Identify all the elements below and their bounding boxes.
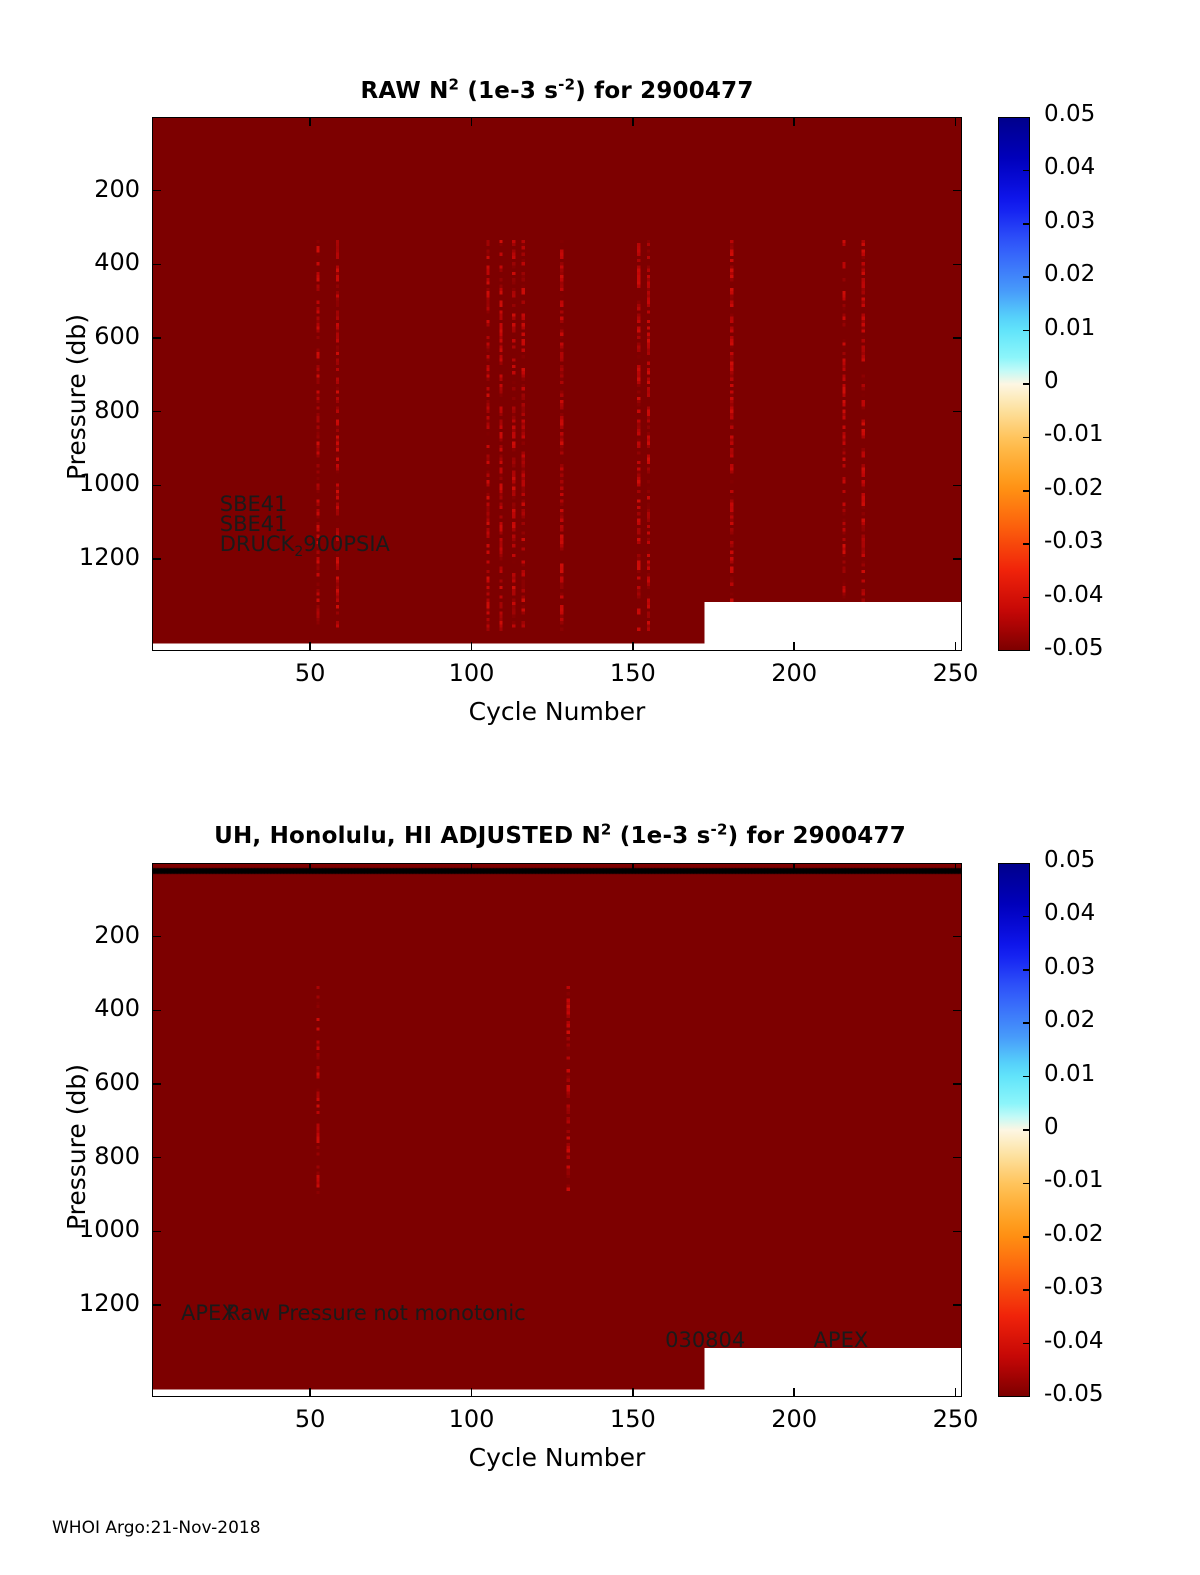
x-tick-250 <box>955 117 957 126</box>
colorbar-tick--0.04 <box>1023 1343 1030 1345</box>
colorbar-tick--0.02 <box>1023 1236 1030 1238</box>
colorbar-tick-0.03 <box>1023 969 1030 971</box>
colorbar-label-0.05: 0.05 <box>1044 101 1095 127</box>
y-tick-800 <box>152 411 161 413</box>
y-tick-1000 <box>152 485 161 487</box>
colorbar-label-0: 0 <box>1044 368 1059 394</box>
colorbar-tick-0.01 <box>1023 330 1030 332</box>
y-tick-label-400: 400 <box>22 994 140 1022</box>
raw-heatmap-axes <box>152 117 962 651</box>
colorbar-label-0.02: 0.02 <box>1044 261 1095 287</box>
colorbar-tick-0.01 <box>1023 1076 1030 1078</box>
y-tick-400 <box>152 264 161 266</box>
colorbar-label--0.04: -0.04 <box>1044 582 1104 608</box>
x-tick-label-100: 100 <box>426 1405 516 1433</box>
x-tick-label-200: 200 <box>749 659 839 687</box>
y-tick-400 <box>953 1010 962 1012</box>
y-tick-200 <box>152 936 161 938</box>
x-tick-50 <box>309 642 311 651</box>
y-tick-400 <box>953 264 962 266</box>
x-tick-250 <box>955 863 957 872</box>
y-tick-1200 <box>152 1304 161 1306</box>
y-tick-600 <box>152 337 161 339</box>
raw-panel: RAW N2 (1e-3 s-2) for 2900477 5010015020… <box>0 0 1200 760</box>
colorbar-label-0.04: 0.04 <box>1044 154 1095 180</box>
x-tick-150 <box>632 1388 634 1397</box>
y-tick-1200 <box>953 1304 962 1306</box>
colorbar-tick-0.02 <box>1023 276 1030 278</box>
x-tick-50 <box>309 863 311 872</box>
colorbar-tick-0 <box>1023 1129 1030 1131</box>
y-tick-800 <box>953 1157 962 1159</box>
colorbar-label--0.03: -0.03 <box>1044 1274 1104 1300</box>
x-tick-50 <box>309 1388 311 1397</box>
x-tick-200 <box>793 642 795 651</box>
y-tick-600 <box>953 1083 962 1085</box>
x-tick-label-150: 150 <box>588 1405 678 1433</box>
y-tick-200 <box>953 936 962 938</box>
x-tick-label-200: 200 <box>749 1405 839 1433</box>
adjusted-x-axis-title: Cycle Number <box>152 1443 962 1472</box>
x-tick-label-250: 250 <box>911 659 1001 687</box>
y-tick-200 <box>953 190 962 192</box>
deployment-date-label: 030804 <box>665 1328 745 1352</box>
colorbar-tick-0.04 <box>1023 170 1030 172</box>
raw-y-axis-title: Pressure (db) <box>62 314 91 480</box>
x-tick-100 <box>471 642 473 651</box>
raw-heatmap-image <box>153 118 961 650</box>
x-tick-label-150: 150 <box>588 659 678 687</box>
adjusted-panel: UH, Honolulu, HI ADJUSTED N2 (1e-3 s-2) … <box>0 760 1200 1520</box>
colorbar-label--0.05: -0.05 <box>1044 1381 1104 1407</box>
x-tick-150 <box>632 117 634 126</box>
x-tick-label-250: 250 <box>911 1405 1001 1433</box>
colorbar-label--0.02: -0.02 <box>1044 475 1104 501</box>
x-tick-200 <box>793 1388 795 1397</box>
colorbar-label-0.03: 0.03 <box>1044 954 1095 980</box>
x-tick-100 <box>471 117 473 126</box>
colorbar-tick--0.03 <box>1023 543 1030 545</box>
float-type-label-right: APEX <box>814 1328 869 1352</box>
colorbar-tick--0.01 <box>1023 1183 1030 1185</box>
pressure-sensor-label: DRUCK2900PSIA <box>220 532 390 556</box>
colorbar-tick-0.03 <box>1023 223 1030 225</box>
raw-x-axis-title: Cycle Number <box>152 697 962 726</box>
y-tick-label-400: 400 <box>22 248 140 276</box>
colorbar-label--0.01: -0.01 <box>1044 1167 1104 1193</box>
x-tick-150 <box>632 863 634 872</box>
colorbar-label-0.02: 0.02 <box>1044 1007 1095 1033</box>
adjusted-y-axis-title: Pressure (db) <box>62 1064 91 1230</box>
x-tick-100 <box>471 863 473 872</box>
colorbar-label--0.04: -0.04 <box>1044 1328 1104 1354</box>
x-tick-250 <box>955 1388 957 1397</box>
colorbar-label-0.04: 0.04 <box>1044 900 1095 926</box>
colorbar-tick--0.01 <box>1023 437 1030 439</box>
x-tick-100 <box>471 1388 473 1397</box>
colorbar-tick-0.02 <box>1023 1022 1030 1024</box>
colorbar-label--0.02: -0.02 <box>1044 1221 1104 1247</box>
x-tick-label-50: 50 <box>265 659 355 687</box>
x-tick-label-50: 50 <box>265 1405 355 1433</box>
colorbar-label--0.03: -0.03 <box>1044 528 1104 554</box>
colorbar-label-0: 0 <box>1044 1114 1059 1140</box>
y-tick-600 <box>953 337 962 339</box>
colorbar-tick--0.04 <box>1023 597 1030 599</box>
y-tick-label-200: 200 <box>22 921 140 949</box>
colorbar-label-0.03: 0.03 <box>1044 208 1095 234</box>
y-tick-600 <box>152 1083 161 1085</box>
y-tick-800 <box>953 411 962 413</box>
colorbar-tick-0.04 <box>1023 916 1030 918</box>
y-tick-400 <box>152 1010 161 1012</box>
y-tick-label-1200: 1200 <box>22 543 140 571</box>
y-tick-label-200: 200 <box>22 175 140 203</box>
x-tick-200 <box>793 863 795 872</box>
y-tick-200 <box>152 190 161 192</box>
pressure-warning-label: Raw Pressure not monotonic <box>226 1301 526 1325</box>
colorbar-tick--0.02 <box>1023 490 1030 492</box>
y-tick-1000 <box>953 485 962 487</box>
x-tick-200 <box>793 117 795 126</box>
y-tick-1000 <box>953 1231 962 1233</box>
colorbar-tick--0.03 <box>1023 1289 1030 1291</box>
adjusted-plot-title: UH, Honolulu, HI ADJUSTED N2 (1e-3 s-2) … <box>130 823 990 849</box>
y-tick-1000 <box>152 1231 161 1233</box>
x-tick-250 <box>955 642 957 651</box>
y-tick-1200 <box>152 558 161 560</box>
y-tick-label-1200: 1200 <box>22 1289 140 1317</box>
colorbar-label--0.05: -0.05 <box>1044 635 1104 661</box>
y-tick-1200 <box>953 558 962 560</box>
colorbar-tick-0 <box>1023 383 1030 385</box>
raw-plot-title: RAW N2 (1e-3 s-2) for 2900477 <box>152 78 962 104</box>
colorbar-label-0.01: 0.01 <box>1044 315 1095 341</box>
x-tick-label-100: 100 <box>426 659 516 687</box>
colorbar-label-0.05: 0.05 <box>1044 847 1095 873</box>
x-tick-50 <box>309 117 311 126</box>
x-tick-150 <box>632 642 634 651</box>
figure-footer: WHOI Argo:21-Nov-2018 <box>52 1518 261 1538</box>
colorbar-label-0.01: 0.01 <box>1044 1061 1095 1087</box>
y-tick-800 <box>152 1157 161 1159</box>
colorbar-label--0.01: -0.01 <box>1044 421 1104 447</box>
